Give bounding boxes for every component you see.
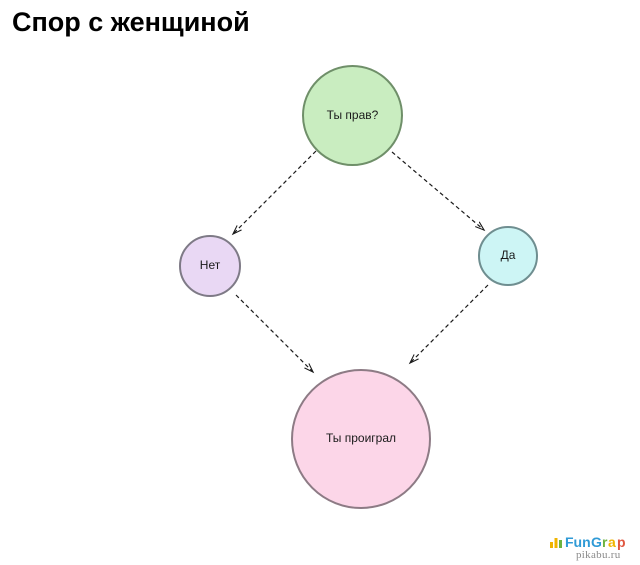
edge-yes-to-lose bbox=[410, 285, 488, 363]
node-yes: Да bbox=[478, 226, 538, 286]
svg-text:a: a bbox=[608, 534, 616, 550]
svg-text:p: p bbox=[617, 534, 626, 550]
edge-question-to-no bbox=[233, 151, 316, 234]
node-lose: Ты проиграл bbox=[291, 369, 431, 509]
svg-text:G: G bbox=[591, 534, 602, 550]
node-no: Нет bbox=[179, 235, 241, 297]
page-title: Спор с женщиной bbox=[12, 7, 250, 38]
svg-text:Fun: Fun bbox=[565, 534, 591, 550]
fungraph-logo: Fun G r a p bbox=[549, 531, 627, 551]
node-question: Ты прав? bbox=[302, 65, 403, 166]
diagram-canvas: Спор с женщиной Ты прав? Нет Да Ты проиг… bbox=[0, 0, 640, 565]
pikabu-watermark: pikabu.ru bbox=[576, 549, 621, 561]
node-yes-label: Да bbox=[495, 249, 522, 263]
edge-no-to-lose bbox=[236, 295, 313, 372]
node-lose-label: Ты проиграл bbox=[320, 432, 402, 446]
node-no-label: Нет bbox=[194, 259, 226, 273]
node-question-label: Ты прав? bbox=[321, 109, 385, 123]
edge-question-to-yes bbox=[392, 152, 484, 230]
